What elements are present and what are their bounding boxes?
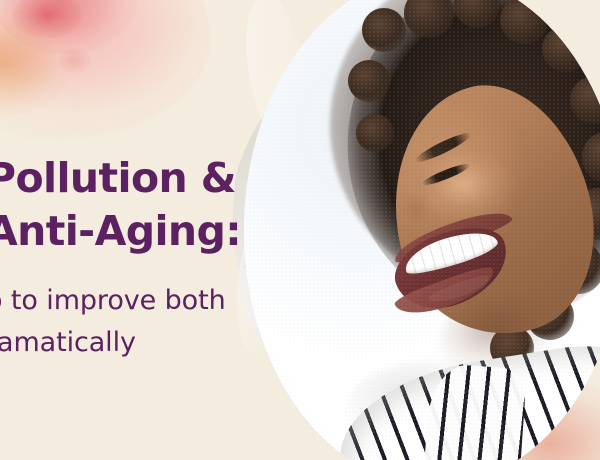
hair-curl (542, 26, 588, 72)
portrait-photo (244, 0, 600, 460)
photo-frame (228, 0, 600, 460)
hair-curl (348, 60, 390, 102)
blog-hero-banner: Pollution & Anti-Aging: o to improve bot… (0, 0, 600, 460)
photo-disc (244, 0, 600, 460)
hair-curl (362, 8, 406, 52)
hair-curl (356, 114, 394, 152)
